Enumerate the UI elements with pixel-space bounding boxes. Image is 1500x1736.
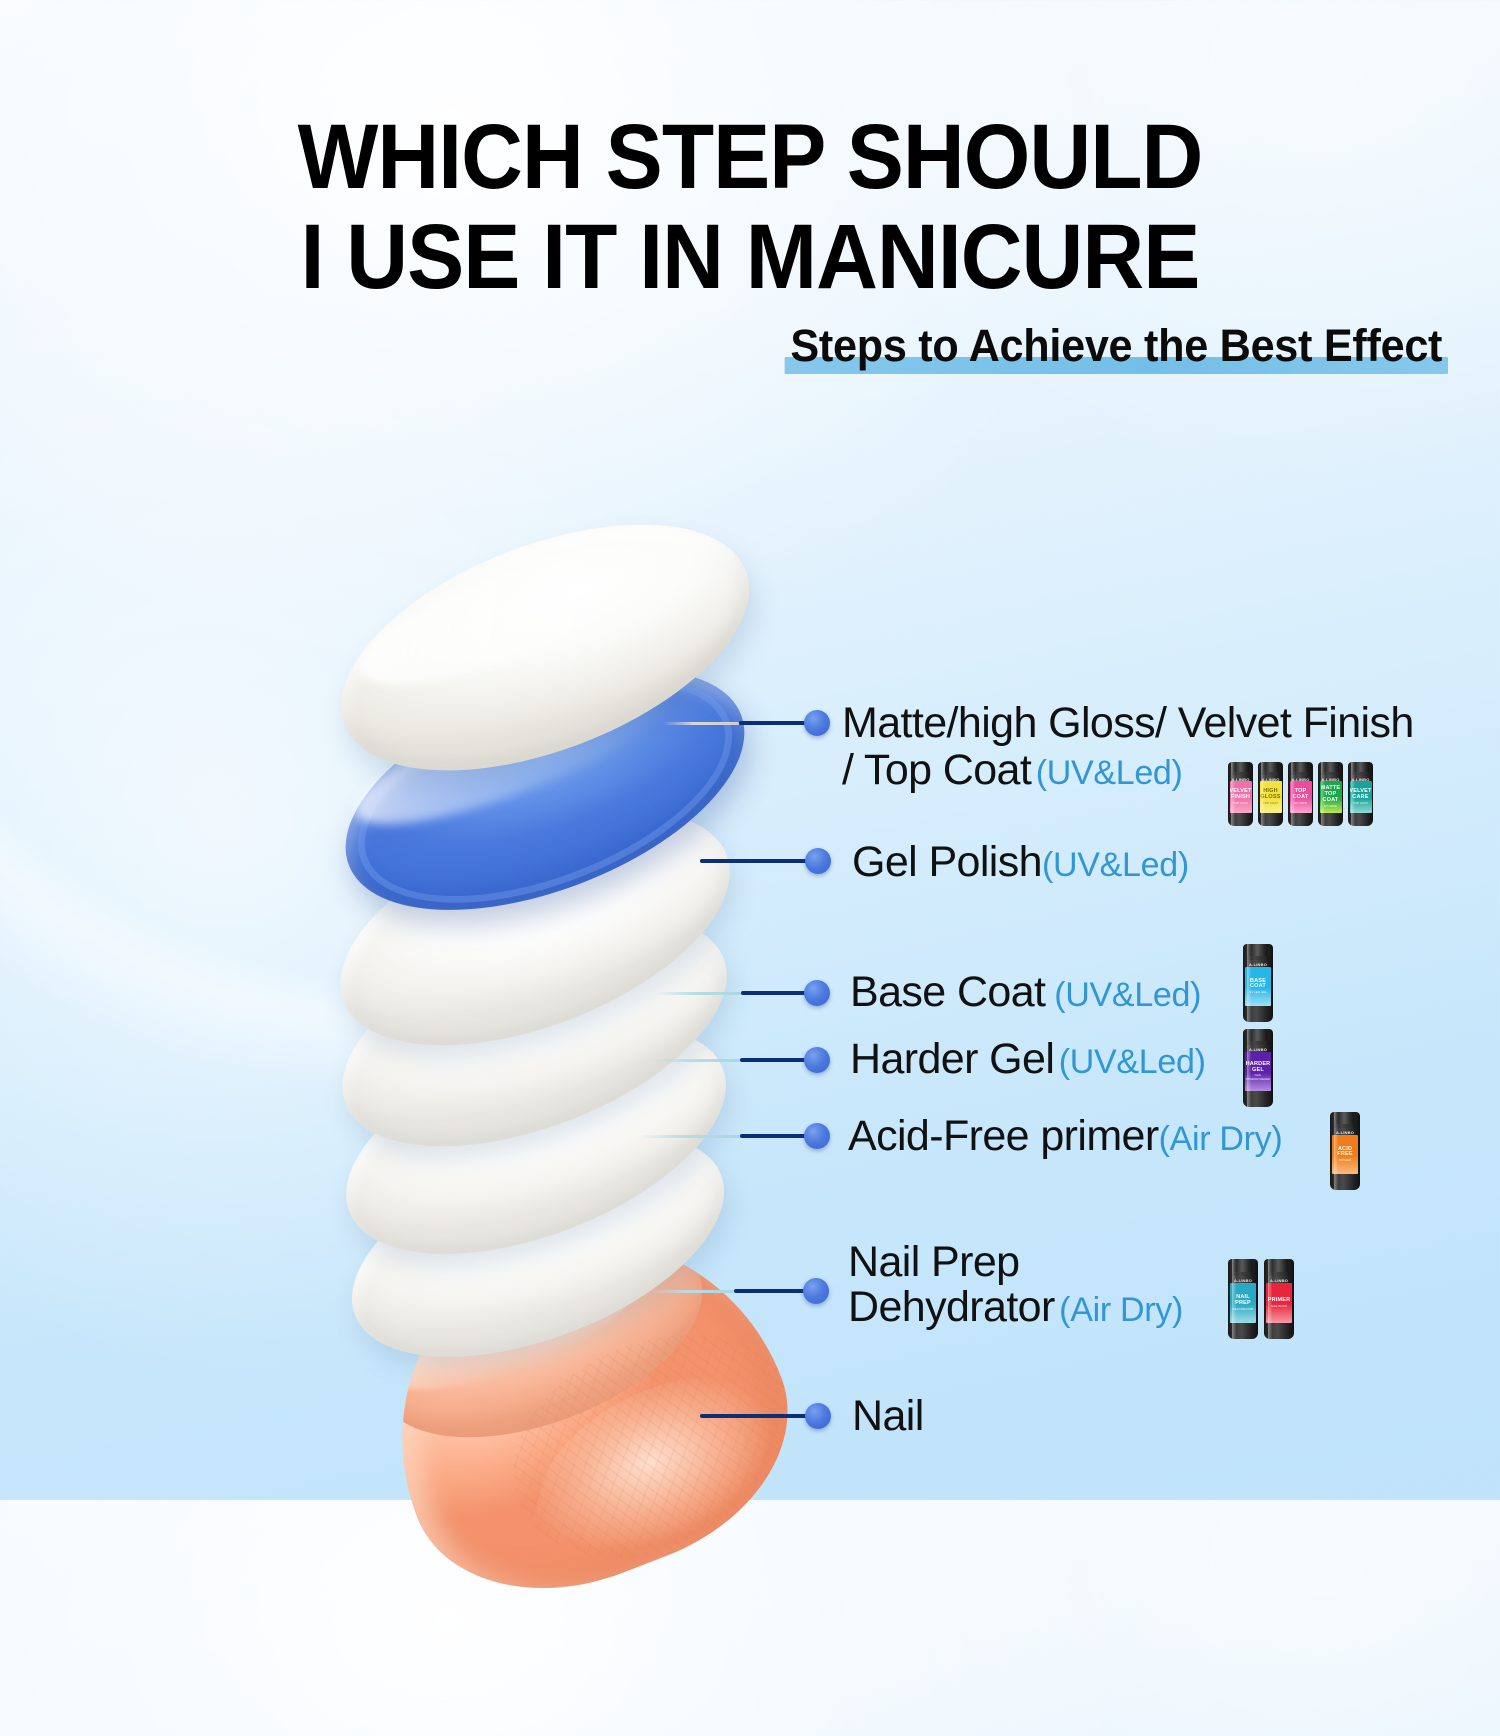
bottle-cap bbox=[1353, 762, 1369, 772]
nail-prep-dehydrator-bottle[interactable]: NAIL PREPDEHYDRATORA-LINBO bbox=[1228, 1259, 1258, 1339]
matte-top-coat-bottle[interactable]: MATTE TOP COATNO WIPEA-LINBO bbox=[1318, 762, 1343, 826]
natural-nail-plate bbox=[351, 1195, 730, 1477]
label-nail-prep-dehydrator: Nail Prep Dehydrator (Air Dry) bbox=[848, 1240, 1183, 1330]
leader-hard-segment bbox=[700, 859, 808, 863]
acid-free-primer-layer bbox=[315, 980, 757, 1301]
bottle-brand: A-LINBO bbox=[1348, 777, 1373, 782]
bottle-label-title: TOP COAT bbox=[1290, 789, 1312, 801]
label-nail-prep-cure: (Air Dry) bbox=[1059, 1291, 1183, 1329]
bottle-cap bbox=[1270, 1259, 1289, 1272]
label-acid-free-primer-text: Acid-Free primer bbox=[848, 1112, 1159, 1160]
bottle-neck bbox=[1247, 956, 1269, 960]
bottle-label-title: NAIL PREP bbox=[1230, 1295, 1256, 1307]
leader-line-nail-prep bbox=[650, 1278, 831, 1304]
bottle-cap bbox=[1323, 762, 1339, 772]
bottle-neck bbox=[1351, 772, 1370, 775]
bottle-label: ACID FREEPRIMER bbox=[1332, 1135, 1358, 1174]
bottle-label-title: VELVET FINISH bbox=[1230, 789, 1252, 801]
bottle-brand: A-LINBO bbox=[1288, 777, 1313, 782]
bottle-label: MATTE TOP COATNO WIPE bbox=[1320, 781, 1342, 813]
bottle-cap bbox=[1263, 762, 1279, 772]
velvet-finish-bottle[interactable]: VELVET FINISHTOP COATA-LINBO bbox=[1228, 762, 1253, 826]
bottle-neck bbox=[1261, 772, 1280, 775]
bottle-label-subtitle: NAIL BOND bbox=[1271, 1305, 1287, 1308]
leader-hard-segment bbox=[734, 1289, 806, 1293]
bottle-brand: A-LINBO bbox=[1228, 1278, 1258, 1283]
acid-free-primer-bottle[interactable]: ACID FREEPRIMERA-LINBO bbox=[1330, 1112, 1360, 1190]
bottle-label: HIGH GLOSSTOP COAT bbox=[1260, 781, 1282, 813]
bottle-brand: A-LINBO bbox=[1258, 777, 1283, 782]
top-coat-bottle-group: VELVET FINISHTOP COATA-LINBO HIGH GLOSST… bbox=[1228, 762, 1373, 826]
leader-line-harder-gel bbox=[648, 1047, 831, 1073]
harder-gel-layer bbox=[311, 869, 758, 1193]
bottle-cap bbox=[1249, 1029, 1268, 1041]
bottle-label-subtitle: TOP COAT bbox=[1353, 802, 1368, 805]
bottle-cap bbox=[1249, 944, 1268, 956]
dehydrator-bottle-group: NAIL PREPDEHYDRATORA-LINBO PRIMERNAIL BO… bbox=[1228, 1259, 1294, 1339]
bottle-cap bbox=[1293, 762, 1309, 772]
leader-soft-segment bbox=[663, 722, 739, 725]
bottle-label-title: HARDER GEL bbox=[1245, 1062, 1271, 1074]
label-gel-polish-cure: (UV&Led) bbox=[1042, 846, 1189, 884]
bottle-label: VELVET CARETOP COAT bbox=[1350, 781, 1372, 813]
bottle-brand: A-LINBO bbox=[1264, 1278, 1294, 1283]
cuticle bbox=[344, 1202, 665, 1422]
bottle-label: BASE COATUV LED GEL bbox=[1245, 967, 1271, 1006]
fingertip-illustration bbox=[344, 1186, 826, 1634]
bottle-label-subtitle: DEHYDRATOR bbox=[1233, 1308, 1254, 1311]
bottle-cap bbox=[1234, 1259, 1253, 1272]
step-labels: Matte/high Gloss/ Velvet Finish / Top Co… bbox=[838, 0, 1500, 1500]
leader-hard-segment bbox=[740, 1134, 807, 1138]
leader-dot bbox=[804, 980, 830, 1006]
bottle-label-title: BASE COAT bbox=[1245, 979, 1271, 991]
leader-dot bbox=[803, 1278, 829, 1304]
label-harder-gel: Harder Gel (UV&Led) bbox=[850, 1035, 1206, 1084]
leader-line-top-coat bbox=[663, 710, 831, 736]
label-nail-prep-line1: Nail Prep bbox=[848, 1238, 1019, 1286]
label-harder-gel-cure: (UV&Led) bbox=[1059, 1043, 1206, 1081]
top-coat-layer bbox=[308, 475, 783, 820]
label-nail: Nail bbox=[852, 1392, 924, 1441]
leader-hard-segment bbox=[739, 721, 807, 725]
bottle-label: PRIMERNAIL BOND bbox=[1266, 1283, 1292, 1323]
primer-bottle[interactable]: PRIMERNAIL BONDA-LINBO bbox=[1264, 1259, 1294, 1339]
velvet-top-coat-bottle[interactable]: VELVET CARETOP COATA-LINBO bbox=[1348, 762, 1373, 826]
leader-dot bbox=[804, 1047, 830, 1073]
label-top-coat-line1: Matte/high Gloss/ Velvet Finish bbox=[842, 699, 1414, 747]
leader-hard-segment bbox=[741, 991, 807, 995]
bottle-label-subtitle: NO WIPE bbox=[1294, 802, 1307, 805]
leader-soft-segment bbox=[650, 1290, 734, 1293]
label-top-coat-cure: (UV&Led) bbox=[1036, 754, 1183, 792]
bottle-label-subtitle: NAIL STRENGTHENER bbox=[1245, 1074, 1271, 1081]
leader-hard-segment bbox=[700, 1414, 808, 1418]
bottle-label-title: VELVET CARE bbox=[1350, 789, 1372, 801]
bottle-brand: A-LINBO bbox=[1228, 777, 1253, 782]
bottle-label-subtitle: NO WIPE bbox=[1324, 805, 1337, 808]
top-coat-bottle[interactable]: TOP COATNO WIPEA-LINBO bbox=[1288, 762, 1313, 826]
bottle-neck bbox=[1268, 1272, 1290, 1276]
label-acid-free-primer-cure: (Air Dry) bbox=[1159, 1120, 1283, 1158]
gel-polish-layer bbox=[313, 621, 777, 958]
leader-soft-segment bbox=[640, 1135, 740, 1138]
bottle-brand: A-LINBO bbox=[1318, 777, 1343, 782]
bottle-label: TOP COATNO WIPE bbox=[1290, 781, 1312, 813]
label-nail-text: Nail bbox=[852, 1392, 924, 1440]
label-acid-free-primer: Acid-Free primer(Air Dry) bbox=[848, 1112, 1282, 1161]
bottle-label: VELVET FINISHTOP COAT bbox=[1230, 781, 1252, 813]
leader-soft-segment bbox=[648, 1059, 740, 1062]
leader-line-acid-free-primer bbox=[640, 1123, 831, 1149]
leader-dot bbox=[805, 1403, 831, 1429]
bottle-label-subtitle: TOP COAT bbox=[1263, 802, 1278, 805]
high-gloss-bottle[interactable]: HIGH GLOSSTOP COATA-LINBO bbox=[1258, 762, 1283, 826]
bottle-brand: A-LINBO bbox=[1243, 1047, 1273, 1052]
label-gel-polish-text: Gel Polish bbox=[852, 838, 1042, 886]
bottle-label-subtitle: PRIMER bbox=[1339, 1159, 1351, 1162]
base-coat-bottle[interactable]: BASE COATUV LED GELA-LINBO bbox=[1243, 944, 1273, 1022]
fingerprint-ridges bbox=[480, 1295, 826, 1599]
label-top-coat-line2: / Top Coat bbox=[842, 746, 1031, 794]
leader-line-nail bbox=[700, 1403, 831, 1429]
bottle-cap bbox=[1336, 1112, 1355, 1124]
bottle-brand: A-LINBO bbox=[1243, 962, 1273, 967]
bottle-label-subtitle: UV LED GEL bbox=[1249, 991, 1267, 994]
label-base-coat-text: Base Coat bbox=[850, 968, 1045, 1016]
bottle-label-title: MATTE TOP COAT bbox=[1320, 786, 1342, 803]
bottle-neck bbox=[1321, 772, 1340, 775]
bottle-label: NAIL PREPDEHYDRATOR bbox=[1230, 1283, 1256, 1323]
leader-line-base-coat bbox=[655, 980, 831, 1006]
bottle-label-title: ACID FREE bbox=[1332, 1147, 1358, 1159]
leader-dot bbox=[805, 848, 831, 874]
label-base-coat: Base Coat (UV&Led) bbox=[850, 968, 1201, 1017]
leader-soft-segment bbox=[655, 992, 741, 995]
bottle-neck bbox=[1232, 1272, 1254, 1276]
bottle-label: HARDER GELNAIL STRENGTHENER bbox=[1245, 1052, 1271, 1091]
leader-hard-segment bbox=[740, 1058, 807, 1062]
leader-dot bbox=[804, 710, 830, 736]
bottle-neck bbox=[1231, 772, 1250, 775]
label-base-coat-cure: (UV&Led) bbox=[1054, 976, 1201, 1014]
bottle-label-title: PRIMER bbox=[1268, 1298, 1291, 1304]
finger-knuckle-highlight bbox=[507, 1336, 826, 1621]
leader-line-gel-polish bbox=[700, 848, 831, 874]
leader-dot bbox=[804, 1123, 830, 1149]
bottle-label-title: HIGH GLOSS bbox=[1260, 789, 1282, 801]
bottle-neck bbox=[1291, 772, 1310, 775]
bottle-brand: A-LINBO bbox=[1330, 1130, 1360, 1135]
label-gel-polish: Gel Polish(UV&Led) bbox=[852, 838, 1189, 887]
bottle-cap bbox=[1233, 762, 1249, 772]
bottle-label-subtitle: TOP COAT bbox=[1233, 802, 1248, 805]
base-coat-layer bbox=[308, 763, 761, 1093]
harder-gel-bottle[interactable]: HARDER GELNAIL STRENGTHENERA-LINBO bbox=[1243, 1029, 1273, 1107]
bottle-neck bbox=[1334, 1124, 1356, 1128]
nail-prep-layer bbox=[322, 1088, 755, 1402]
label-nail-prep-line2: Dehydrator bbox=[848, 1283, 1055, 1331]
bottle-neck bbox=[1247, 1041, 1269, 1045]
label-harder-gel-text: Harder Gel bbox=[850, 1035, 1054, 1083]
